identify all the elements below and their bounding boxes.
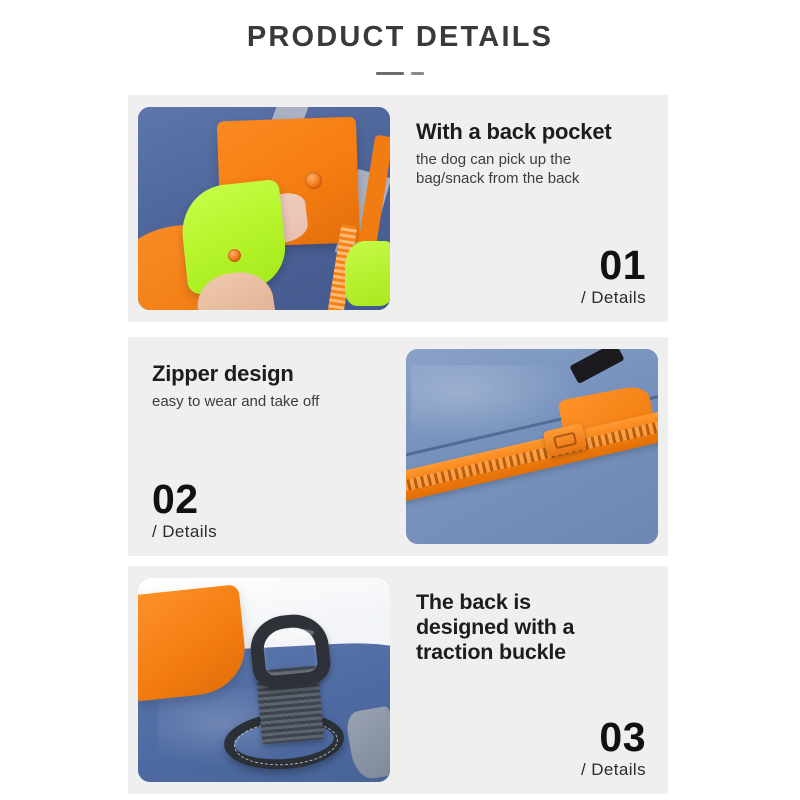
detail-photo-02	[396, 337, 668, 556]
detail-card-list: With a back pocket the dog can pick up t…	[128, 95, 668, 794]
detail-text-02: Zipper design easy to wear and take off …	[128, 337, 396, 556]
page-header: PRODUCT DETAILS	[0, 0, 800, 77]
page-title: PRODUCT DETAILS	[0, 22, 800, 54]
detail-heading-03-line3: traction buckle	[416, 640, 646, 665]
photo-frame-zipper	[406, 349, 658, 544]
detail-number-block-02: 02 / Details	[152, 479, 374, 542]
detail-subtext-02-line1: easy to wear and take off	[152, 392, 374, 411]
detail-text-01: With a back pocket the dog can pick up t…	[400, 95, 668, 322]
detail-card-02: Zipper design easy to wear and take off …	[128, 337, 668, 556]
detail-subtext-01: the dog can pick up the bag/snack from t…	[416, 150, 646, 188]
title-divider	[0, 71, 800, 77]
divider-dash-long	[376, 72, 404, 75]
photo-frame-back-pocket	[138, 107, 390, 310]
detail-subtext-02: easy to wear and take off	[152, 392, 374, 411]
photo1-snap-button-2	[228, 249, 242, 263]
detail-number-02: 02	[152, 479, 374, 520]
detail-subtext-01-line2: bag/snack from the back	[416, 169, 646, 188]
detail-number-label-01: / Details	[416, 288, 646, 308]
detail-card-01: With a back pocket the dog can pick up t…	[128, 95, 668, 322]
detail-number-01: 01	[416, 245, 646, 286]
detail-heading-01: With a back pocket	[416, 119, 646, 145]
photo1-snap-button-1	[304, 172, 322, 190]
detail-number-block-03: 03 / Details	[416, 717, 646, 780]
detail-subtext-01-line1: the dog can pick up the	[416, 150, 646, 169]
detail-number-03: 03	[416, 717, 646, 758]
detail-heading-03-line2: designed with a	[416, 615, 646, 640]
detail-photo-03	[128, 566, 400, 794]
detail-card-03: The back is designed with a traction buc…	[128, 566, 668, 794]
detail-heading-02: Zipper design	[152, 361, 374, 387]
detail-heading-03: The back is designed with a traction buc…	[416, 590, 646, 665]
detail-number-block-01: 01 / Details	[416, 245, 646, 308]
product-details-page: PRODUCT DETAILS	[0, 0, 800, 800]
detail-heading-03-line1: The back is	[416, 590, 646, 615]
photo-frame-traction-buckle	[138, 578, 390, 782]
detail-photo-01	[128, 95, 400, 322]
divider-dash-short	[411, 72, 424, 75]
photo1-green-trim	[345, 241, 390, 306]
detail-number-label-03: / Details	[416, 760, 646, 780]
detail-number-label-02: / Details	[152, 522, 374, 542]
detail-text-03: The back is designed with a traction buc…	[400, 566, 668, 794]
